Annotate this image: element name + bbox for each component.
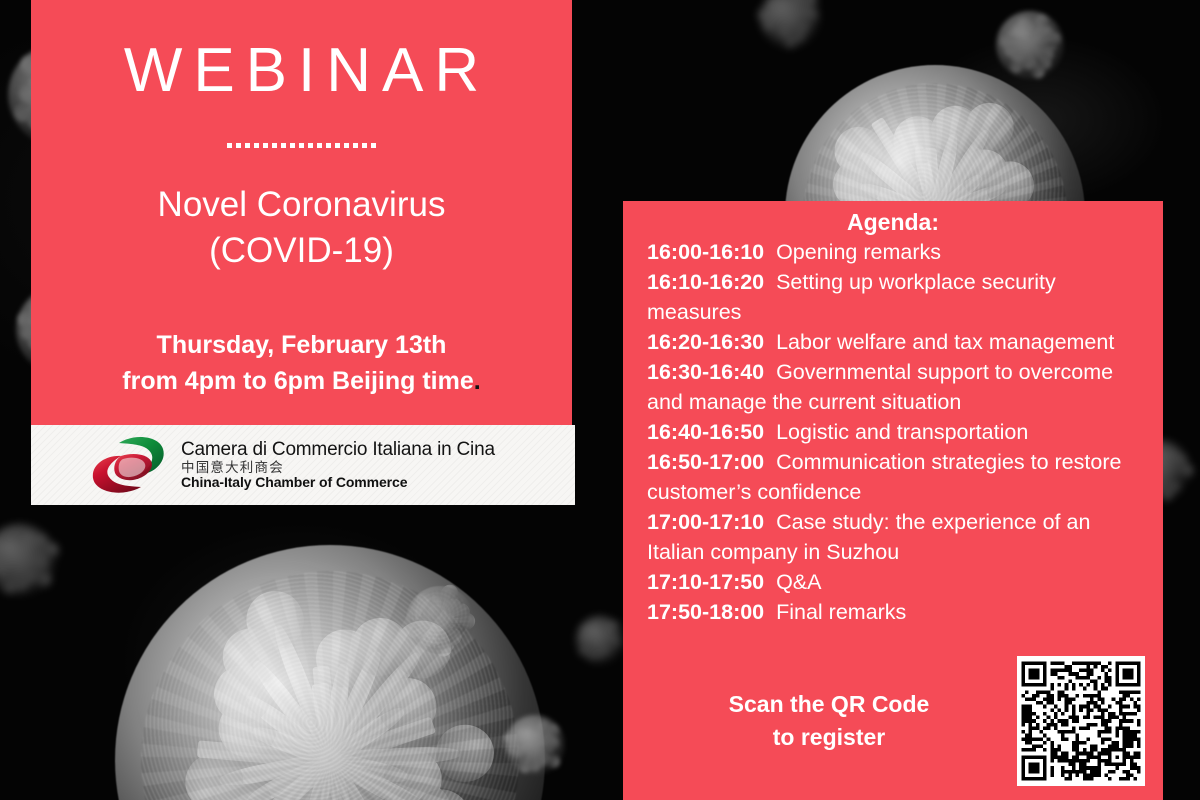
chamber-of-commerce-logo-icon	[89, 434, 171, 496]
organizer-name-block: Camera di Commercio Italiana in Cina 中国意…	[181, 439, 495, 491]
virus-body-texture	[579, 619, 621, 661]
agenda-item-time: 16:50-17:00	[647, 450, 764, 474]
virus-body-texture	[509, 719, 562, 772]
webinar-date: Thursday, February 13th	[31, 328, 572, 364]
divider-dot	[299, 143, 304, 148]
agenda-item-description: Logistic and transportation	[764, 420, 1028, 444]
webinar-time: from 4pm to 6pm Beijing time.	[31, 364, 572, 400]
agenda-item-time: 16:30-16:40	[647, 360, 764, 384]
virus-particle	[406, 586, 474, 654]
divider-dot	[308, 143, 313, 148]
dotted-divider	[31, 143, 572, 151]
agenda-item-description: Final remarks	[764, 600, 906, 624]
registration-caption: Scan the QR Code to register	[647, 688, 1017, 753]
agenda-item: 16:20-16:30 Labor welfare and tax manage…	[647, 328, 1139, 358]
divider-dot	[245, 143, 250, 148]
virus-particle	[505, 715, 565, 775]
webinar-datetime: Thursday, February 13th from 4pm to 6pm …	[31, 328, 572, 399]
agenda-item: 16:40-16:50 Logistic and transportation	[647, 418, 1139, 448]
agenda-heading: Agenda:	[647, 207, 1139, 237]
registration-qr-code[interactable]	[1017, 656, 1145, 786]
subject-line-2: (COVID-19)	[31, 228, 572, 274]
webinar-time-text: from 4pm to 6pm Beijing time	[122, 367, 473, 395]
agenda-item-time: 16:40-16:50	[647, 420, 764, 444]
agenda-item-time: 16:10-16:20	[647, 270, 764, 294]
virus-body-texture	[1000, 15, 1060, 75]
agenda-item-time: 17:00-17:10	[647, 510, 764, 534]
divider-dot	[263, 143, 268, 148]
agenda-item-description: Labor welfare and tax management	[764, 330, 1114, 354]
virus-body	[576, 616, 624, 664]
virus-particle	[996, 11, 1064, 79]
virus-particle	[576, 616, 624, 664]
agenda-item: 16:10-16:20 Setting up workplace securit…	[647, 268, 1139, 328]
virus-body-texture	[764, 0, 817, 44]
divider-dot	[362, 143, 367, 148]
agenda-list: 16:00-16:10 Opening remarks16:10-16:20 S…	[647, 238, 1139, 628]
divider-dot	[281, 143, 286, 148]
organizer-name-chinese: 中国意大利商会	[181, 460, 495, 475]
divider-dot	[326, 143, 331, 148]
agenda-item-time: 16:20-16:30	[647, 330, 764, 354]
divider-dot	[254, 143, 259, 148]
webinar-poster: WEBINAR Novel Coronavirus (COVID-19) Thu…	[0, 0, 1200, 800]
divider-dot	[317, 143, 322, 148]
agenda-item: 16:30-16:40 Governmental support to over…	[647, 358, 1139, 418]
agenda-item: 17:50-18:00 Final remarks	[647, 598, 1139, 628]
virus-body	[406, 586, 474, 654]
registration-caption-line-2: to register	[647, 721, 1011, 754]
agenda-item: 16:00-16:10 Opening remarks	[647, 238, 1139, 268]
agenda-item-time: 17:50-18:00	[647, 600, 764, 624]
virus-particle	[115, 545, 545, 800]
divider-dot	[272, 143, 277, 148]
virus-body	[760, 0, 820, 48]
agenda-item: 17:00-17:10 Case study: the experience o…	[647, 508, 1139, 568]
divider-dot	[353, 143, 358, 148]
virus-particle	[760, 0, 820, 48]
divider-dot	[236, 143, 241, 148]
virus-body	[996, 11, 1064, 79]
webinar-subject: Novel Coronavirus (COVID-19)	[31, 182, 572, 274]
organizer-logo-box: Camera di Commercio Italiana in Cina 中国意…	[31, 425, 575, 505]
agenda-item-time: 16:00-16:10	[647, 240, 764, 264]
hero-panel: WEBINAR Novel Coronavirus (COVID-19) Thu…	[31, 0, 572, 425]
divider-dot	[371, 143, 376, 148]
agenda-item: 17:10-17:50 Q&A	[647, 568, 1139, 598]
subject-line-1: Novel Coronavirus	[31, 182, 572, 228]
agenda-item-description: Opening remarks	[764, 240, 941, 264]
virus-body	[115, 545, 545, 800]
virus-body-texture	[0, 528, 52, 591]
divider-dot	[290, 143, 295, 148]
virus-body	[505, 715, 565, 775]
divider-dot	[227, 143, 232, 148]
divider-dot	[335, 143, 340, 148]
organizer-name-english: China-Italy Chamber of Commerce	[181, 475, 495, 491]
divider-dot	[344, 143, 349, 148]
virus-body-texture	[410, 590, 470, 650]
agenda-item-time: 17:10-17:50	[647, 570, 764, 594]
virus-particle	[0, 524, 56, 596]
webinar-time-period: .	[474, 367, 481, 395]
agenda-item-description: Q&A	[764, 570, 821, 594]
registration-block: Scan the QR Code to register	[647, 656, 1145, 786]
agenda-item: 16:50-17:00 Communication strategies to …	[647, 448, 1139, 508]
registration-caption-line-1: Scan the QR Code	[647, 688, 1011, 721]
organizer-name-italian: Camera di Commercio Italiana in Cina	[181, 439, 495, 460]
agenda-panel: Agenda: 16:00-16:10 Opening remarks16:10…	[623, 201, 1163, 800]
page-title: WEBINAR	[31, 38, 572, 103]
